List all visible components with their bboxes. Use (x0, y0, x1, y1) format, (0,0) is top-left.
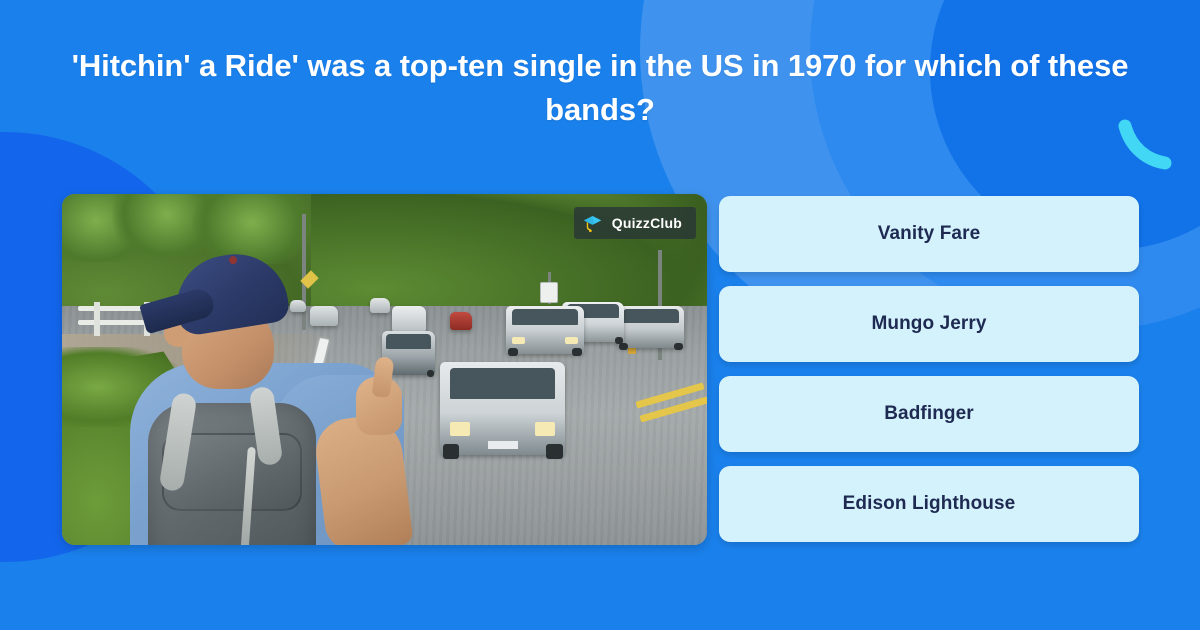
tyre (546, 444, 562, 459)
question-image: QuizzClub (62, 194, 707, 545)
answer-option-label: Badfinger (884, 403, 974, 425)
oncoming-car-foreground (440, 362, 565, 455)
road-sign (540, 282, 558, 303)
answer-option-label: Edison Lighthouse (843, 493, 1016, 515)
tyre (619, 343, 628, 350)
answer-option-3[interactable]: Badfinger (719, 376, 1139, 452)
tyre (572, 348, 582, 356)
red-vehicle (450, 312, 472, 330)
fence-post (94, 302, 100, 336)
watermark-brand: QuizzClub (612, 215, 682, 231)
watermark-badge: QuizzClub (574, 207, 696, 239)
windshield (450, 368, 555, 400)
photo-scene (62, 194, 707, 545)
hitchhiker (124, 251, 404, 545)
tyre (508, 348, 518, 356)
quiz-card: 'Hitchin' a Ride' was a top-ten single i… (0, 0, 1200, 630)
headlight (535, 422, 555, 437)
headlight (450, 422, 470, 437)
oncoming-suv (506, 306, 584, 354)
parked-truck (618, 306, 684, 348)
answer-options: Vanity Fare Mungo Jerry Badfinger Edison… (719, 196, 1139, 556)
answer-option-label: Vanity Fare (878, 223, 980, 245)
answer-option-label: Mungo Jerry (871, 313, 986, 335)
windshield (623, 309, 678, 323)
tyre (615, 337, 623, 343)
license-plate (488, 441, 518, 449)
graduation-cap-icon (581, 212, 603, 234)
headlight (565, 337, 577, 345)
answer-option-1[interactable]: Vanity Fare (719, 196, 1139, 272)
answer-option-4[interactable]: Edison Lighthouse (719, 466, 1139, 542)
tyre (443, 444, 459, 459)
windshield (512, 309, 578, 325)
tyre (427, 370, 434, 377)
headlight (512, 337, 524, 345)
question-title: 'Hitchin' a Ride' was a top-ten single i… (60, 44, 1140, 132)
cap-button (228, 256, 237, 265)
tyre (674, 343, 683, 350)
answer-option-2[interactable]: Mungo Jerry (719, 286, 1139, 362)
